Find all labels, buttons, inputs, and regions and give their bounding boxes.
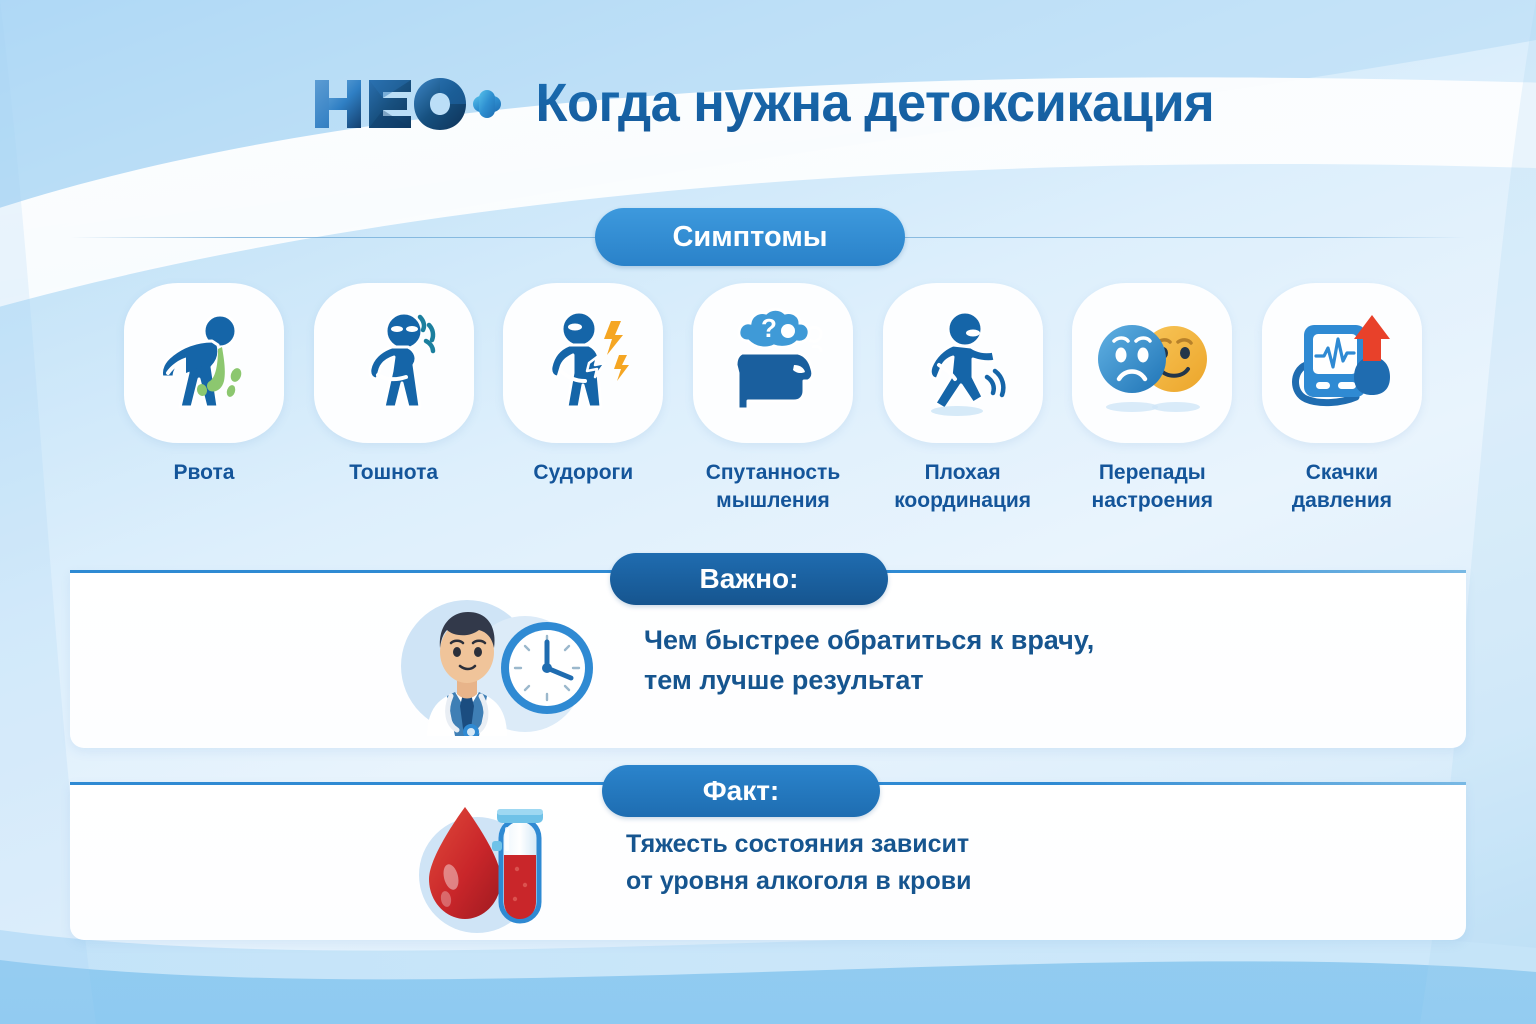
label-line-1: Скачки [1306,461,1378,484]
symptom-item-nausea[interactable]: Тошнота [308,283,480,487]
blood-drop-test-tube-illustration [400,793,600,933]
symptom-card: ? [693,283,853,443]
important-line-1: Чем быстрее обратиться к врачу, [644,625,1094,655]
label-line-1: Перепады [1099,461,1206,484]
label-line-2: давления [1292,489,1392,512]
symptom-item-vomiting[interactable]: Рвота [118,283,290,487]
symptoms-row: Рвота Тошнота [118,283,1428,514]
symptom-item-poor-coordination[interactable]: Плохая координация [877,283,1049,514]
symptom-card [883,283,1043,443]
svg-text:?: ? [761,313,777,343]
label-line-1: Спутанность [706,461,841,484]
fact-line-2: от уровня алкоголя в крови [626,867,971,895]
badge-fact: Факт: [602,765,880,817]
label-line-2: мышления [716,489,830,512]
fact-line-1: Тяжесть состояния зависит [626,830,969,858]
symptom-card [1262,283,1422,443]
fact-text: Тяжесть состояния зависит от уровня алко… [626,826,971,900]
symptom-card [124,283,284,443]
important-text: Чем быстрее обратиться к врачу, тем лучш… [644,621,1094,701]
symptom-item-confusion[interactable]: ? Спутанность мышления [687,283,859,514]
symptom-label: Перепады настроения [1092,459,1214,514]
important-line-2: тем лучше результат [644,665,924,695]
symptom-card [503,283,663,443]
badge-important: Важно: [610,553,888,605]
symptom-item-blood-pressure[interactable]: Скачки давления [1256,283,1428,514]
confusion-icon: ? [712,303,834,423]
cramps-icon [523,303,643,423]
symptom-label: Скачки давления [1292,459,1392,514]
symptom-card [1072,283,1232,443]
label-line-2: координация [894,489,1031,512]
neo-plus-logo [311,72,503,134]
symptom-label: Спутанность мышления [706,459,841,514]
symptom-item-mood-swings[interactable]: Перепады настроения [1066,283,1238,514]
vomiting-icon [144,303,264,423]
symptom-item-cramps[interactable]: Судороги [497,283,669,487]
poor-coordination-icon [903,303,1023,423]
symptom-card [314,283,474,443]
nausea-icon [334,303,454,423]
symptom-label: Судороги [533,459,633,487]
symptom-label: Плохая координация [894,459,1031,514]
blood-pressure-icon [1280,303,1404,423]
symptom-label: Рвота [174,459,235,487]
doctor-with-clock-illustration [370,586,630,736]
page-title: Когда нужна детоксикация [536,72,1215,134]
symptom-label: Тошнота [349,459,438,487]
label-line-1: Плохая [925,461,1001,484]
label-line-2: настроения [1092,489,1214,512]
mood-swings-icon [1088,303,1216,423]
page-header: Когда нужна детоксикация [0,72,1536,134]
badge-symptoms: Симптомы [595,208,905,266]
